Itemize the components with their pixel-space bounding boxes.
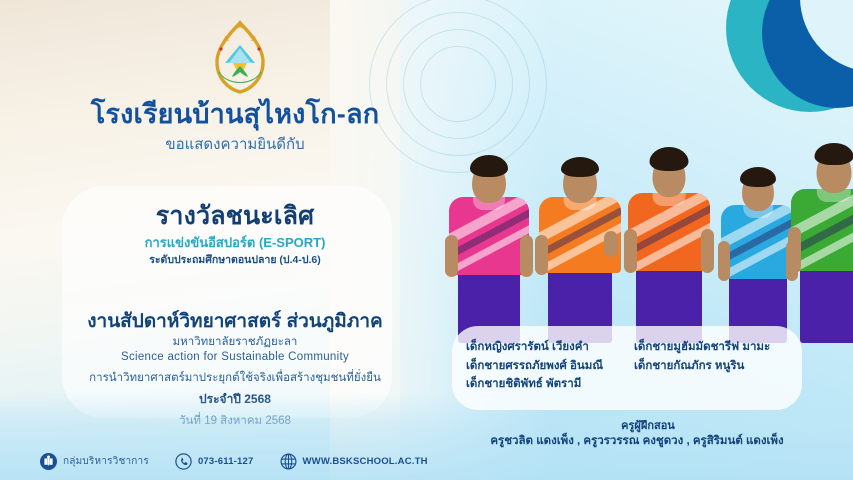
- student-figure-3: [624, 131, 714, 343]
- list-item: เด็กชายศรรถภัยพงศ์ อินมณี เด็กชายกัณภักร…: [466, 357, 838, 376]
- school-name: โรงเรียนบ้านสุไหงโก-ลก: [0, 100, 470, 129]
- student-name: เด็กชายศรรถภัยพงศ์ อินมณี: [466, 357, 634, 376]
- event-university: มหาวิทยาลัยราชภัฏยะลา: [0, 333, 470, 351]
- footer-website[interactable]: WWW.BSKSCHOOL.AC.TH: [280, 453, 428, 470]
- footer-department-label: กลุ่มบริหารวิชาการ: [63, 454, 149, 469]
- event-title: งานสัปดาห์วิทยาศาสตร์ ส่วนภูมิภาค: [0, 306, 470, 336]
- student-figure-1: [446, 138, 532, 343]
- student-name: เด็กชายชิติพัทธ์ พัตรามี: [466, 375, 634, 394]
- student-figure-4: [718, 147, 798, 343]
- student-name: เด็กชายกัณภักร หนูริน: [634, 357, 834, 376]
- phone-icon: [175, 453, 192, 470]
- student-figure-5: [788, 128, 853, 343]
- footer-contact-bar: กลุ่มบริหารวิชาการ 073-611-127: [0, 448, 470, 474]
- poster-canvas: โรงเรียนบ้านสุไหงโก-ลก ขอแสดงความยินดีกั…: [0, 0, 853, 480]
- footer-department: กลุ่มบริหารวิชาการ: [40, 453, 149, 470]
- student-name: [634, 375, 834, 394]
- congrats-text: ขอแสดงความยินดีกับ: [0, 132, 470, 156]
- award-level: ระดับประถมศึกษาตอนปลาย (ป.4-ป.6): [0, 251, 470, 268]
- list-item: เด็กหญิงศรารัตน์ เวียงคำ เด็กชายมูฮัมมัด…: [466, 338, 838, 357]
- student-name: เด็กชายมูฮัมมัดชารีฟ มามะ: [634, 338, 834, 357]
- students-photo: [432, 128, 853, 343]
- book-icon: [40, 453, 57, 470]
- award-competition: การแข่งขันอีสปอร์ต (E-SPORT): [0, 232, 470, 253]
- teacher-names: ครูชวลิต แดงเพ็ง , ครูวรวรรณ คงชูดวง , ค…: [430, 432, 844, 450]
- event-theme-th: การนำวิทยาศาสตร์มาประยุกต์ใช้จริงเพื่อสร…: [0, 369, 470, 387]
- list-item: เด็กชายชิติพัทธ์ พัตรามี: [466, 375, 838, 394]
- globe-icon: [280, 453, 297, 470]
- award-title: รางวัลชนะเลิศ: [0, 196, 470, 236]
- student-figure-2: [536, 138, 624, 343]
- student-names-list: เด็กหญิงศรารัตน์ เวียงคำ เด็กชายมูฮัมมัด…: [466, 338, 838, 404]
- footer-phone-number: 073-611-127: [198, 456, 254, 467]
- student-name: เด็กหญิงศรารัตน์ เวียงคำ: [466, 338, 634, 357]
- footer-phone[interactable]: 073-611-127: [175, 453, 254, 470]
- event-theme-en: Science action for Sustainable Community: [0, 351, 470, 363]
- footer-website-url: WWW.BSKSCHOOL.AC.TH: [303, 456, 428, 467]
